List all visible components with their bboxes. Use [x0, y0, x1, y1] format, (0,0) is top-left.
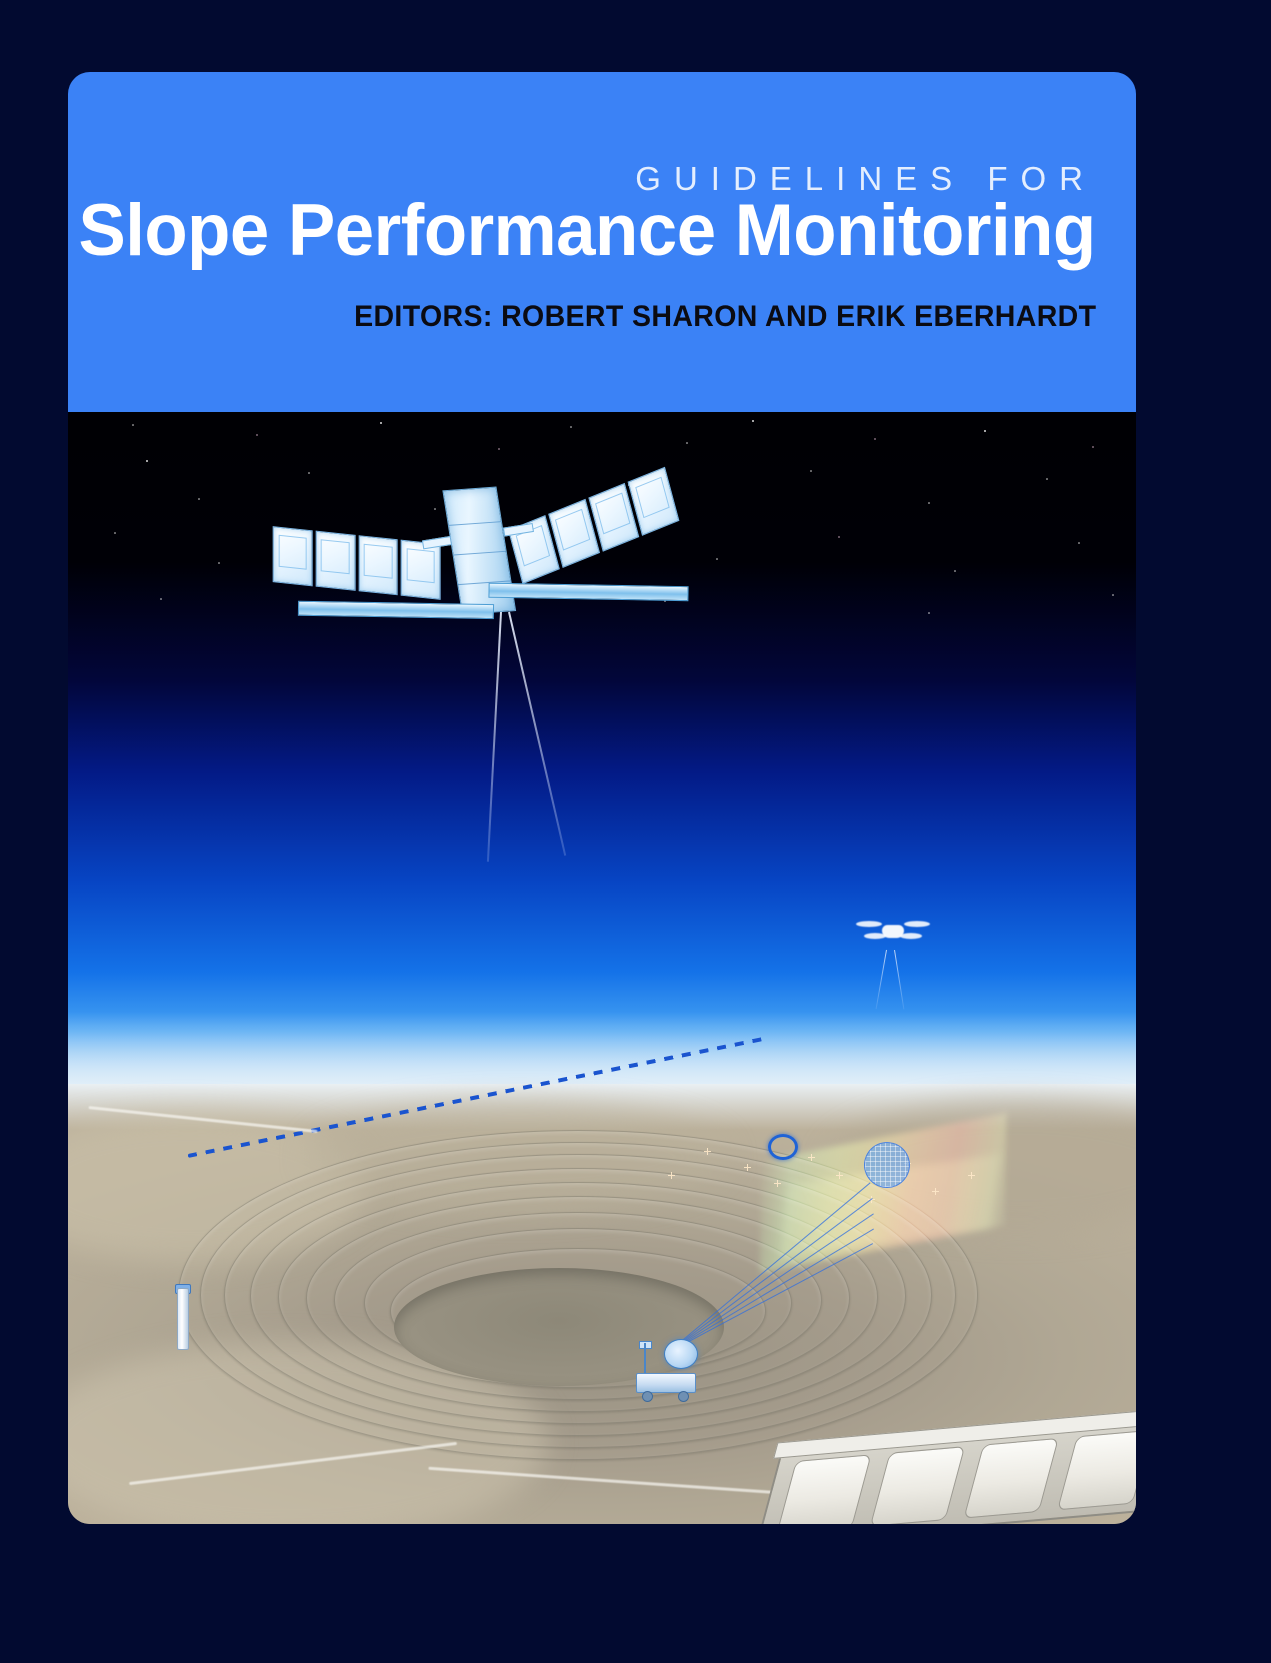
star: [1078, 542, 1080, 544]
star: [114, 532, 116, 534]
star: [218, 562, 220, 564]
star: [498, 448, 500, 450]
star: [752, 420, 754, 422]
star: [198, 498, 200, 500]
vehicle-wheel: [642, 1391, 653, 1402]
cover-artwork: [68, 412, 1136, 1524]
star: [380, 422, 382, 424]
page-title: Slope Performance Monitoring: [79, 194, 1096, 267]
star: [1046, 478, 1048, 480]
prism-marker: [744, 1164, 751, 1171]
star: [810, 470, 812, 472]
star: [954, 570, 956, 572]
star: [160, 598, 162, 600]
solar-panel-right: [508, 467, 679, 584]
star: [146, 460, 148, 462]
star: [716, 558, 718, 560]
prism-marker: [808, 1154, 815, 1161]
prism-pole: [177, 1288, 189, 1350]
vehicle-wheel: [678, 1391, 689, 1402]
star: [928, 612, 930, 614]
star: [838, 536, 840, 538]
prism-station: [172, 1288, 194, 1358]
prism-marker: [968, 1172, 975, 1179]
prism-marker: [932, 1188, 939, 1195]
star: [1092, 446, 1094, 448]
radar-scan-footprint: [864, 1142, 910, 1188]
book-cover: GUIDELINES FOR Slope Performance Monitor…: [0, 0, 1271, 1663]
star: [874, 438, 876, 440]
star: [256, 434, 258, 436]
star: [686, 442, 688, 444]
star: [308, 472, 310, 474]
star: [928, 502, 930, 504]
drone-rotor: [856, 921, 882, 927]
editors-line: EDITORS: ROBERT SHARON AND ERIK EBERHARD…: [354, 300, 1096, 334]
satellite-truss-left: [298, 601, 494, 619]
prism-marker: [836, 1172, 843, 1179]
star: [132, 424, 134, 426]
drone-rotor: [904, 921, 930, 927]
radar-dish-icon: [664, 1339, 698, 1369]
radar-vehicle: [628, 1337, 714, 1401]
solar-panel-left: [273, 526, 441, 600]
radar-vehicle-cab: [636, 1373, 696, 1393]
title-band: GUIDELINES FOR Slope Performance Monitor…: [68, 72, 1136, 412]
star: [1112, 594, 1114, 596]
target-ring-marker: [768, 1134, 798, 1160]
satellite-truss-right: [488, 583, 688, 601]
star: [984, 430, 986, 432]
drone-body: [882, 925, 904, 938]
prism-marker: [668, 1172, 675, 1179]
prism-marker: [774, 1180, 781, 1187]
star: [570, 426, 572, 428]
drone-rotor: [900, 933, 922, 939]
drone-icon: [858, 917, 928, 951]
title-band-inner: GUIDELINES FOR Slope Performance Monitor…: [108, 72, 1100, 412]
prism-marker: [704, 1148, 711, 1155]
